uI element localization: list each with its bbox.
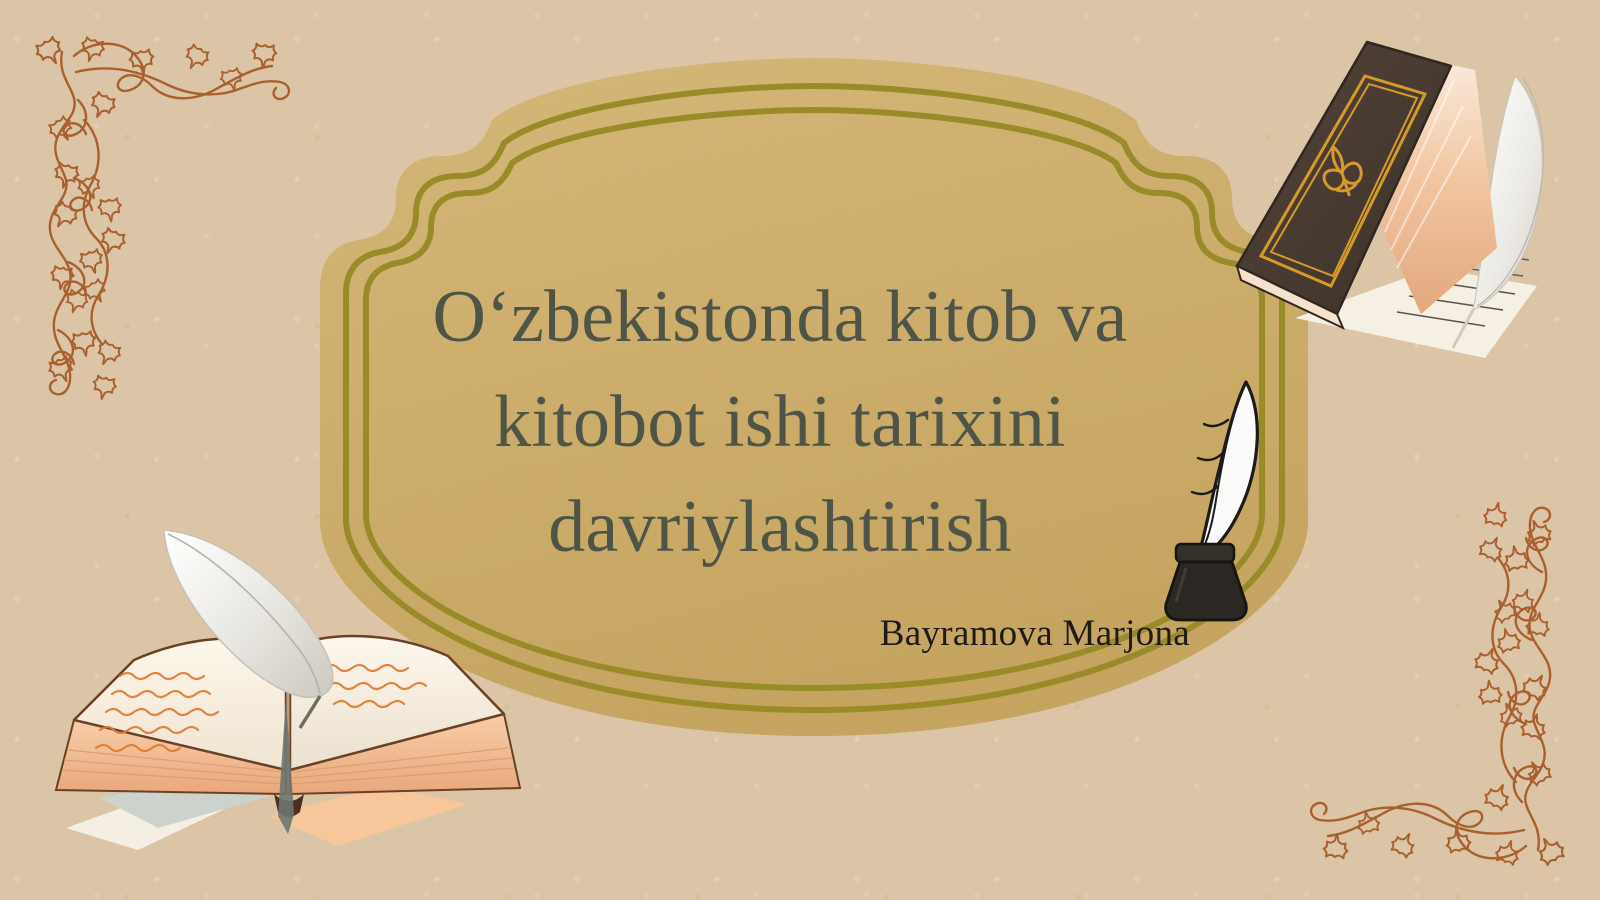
closed-book-illustration: [1185, 18, 1585, 388]
title-line-2: kitobot ishi tarixini: [330, 370, 1230, 475]
inkwell-with-quill-illustration: [1128, 368, 1303, 623]
slide-canvas: O‘zbekistonda kitob va kitobot ishi tari…: [0, 0, 1600, 900]
quill-pen-icon: [1186, 382, 1257, 568]
open-book-illustration: [38, 498, 558, 868]
inkwell-icon: [1166, 544, 1247, 620]
title-line-1: O‘zbekistonda kitob va: [330, 265, 1230, 370]
